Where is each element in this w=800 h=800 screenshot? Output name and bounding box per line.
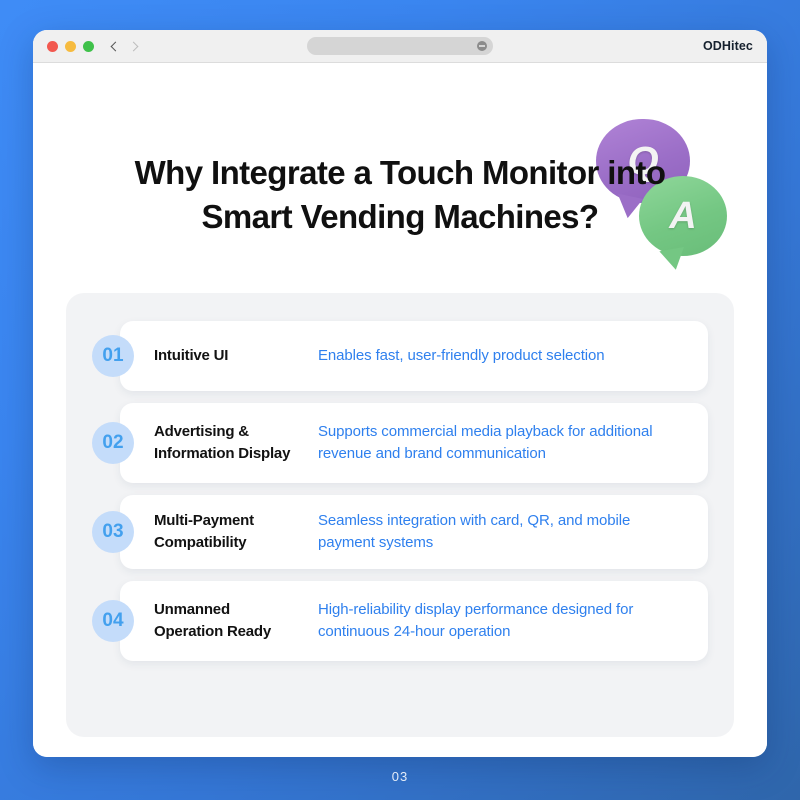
feature-title: Multi-Payment Compatibility [154,510,296,554]
feature-title: Advertising & Information Display [154,421,296,465]
feature-description: Seamless integration with card, QR, and … [296,510,690,554]
feature-description: Enables fast, user-friendly product sele… [296,345,690,367]
slide-heading-wrap: Why Integrate a Touch Monitor into Smart… [33,151,767,239]
browser-window: ODHitec Q A Why Integrate a Touch Monito… [33,30,767,757]
feature-list: 01 Intuitive UI Enables fast, user-frien… [92,321,708,661]
list-item[interactable]: 01 Intuitive UI Enables fast, user-frien… [92,321,708,391]
window-controls [47,41,94,52]
feature-panel: 01 Intuitive UI Enables fast, user-frien… [66,293,734,737]
feature-title: Intuitive UI [154,345,296,367]
answer-bubble-tail [659,247,687,272]
close-window-button[interactable] [47,41,58,52]
feature-card[interactable]: Multi-Payment Compatibility Seamless int… [120,495,708,569]
forward-arrow-icon[interactable] [130,41,141,52]
list-item[interactable]: 04 Unmanned Operation Ready High-reliabi… [92,581,708,661]
browser-titlebar: ODHitec [33,30,767,63]
back-arrow-icon[interactable] [110,41,121,52]
list-item[interactable]: 03 Multi-Payment Compatibility Seamless … [92,495,708,569]
browser-navigation [110,41,141,52]
list-item[interactable]: 02 Advertising & Information Display Sup… [92,403,708,483]
feature-card[interactable]: Unmanned Operation Ready High-reliabilit… [120,581,708,661]
brand-logo-text: ODHitec [703,39,753,53]
feature-number-badge: 02 [92,422,134,464]
slide-content: Q A Why Integrate a Touch Monitor into S… [33,63,767,757]
page-title: Why Integrate a Touch Monitor into Smart… [90,151,710,239]
maximize-window-button[interactable] [83,41,94,52]
no-entry-icon [477,41,487,51]
feature-title: Unmanned Operation Ready [154,599,296,643]
feature-description: High-reliability display performance des… [296,599,690,643]
feature-card[interactable]: Intuitive UI Enables fast, user-friendly… [120,321,708,391]
address-bar[interactable] [307,37,493,55]
feature-description: Supports commercial media playback for a… [296,421,690,465]
feature-card[interactable]: Advertising & Information Display Suppor… [120,403,708,483]
page-number: 03 [0,769,800,784]
minimize-window-button[interactable] [65,41,76,52]
feature-number-badge: 04 [92,600,134,642]
feature-number-badge: 01 [92,335,134,377]
feature-number-badge: 03 [92,511,134,553]
